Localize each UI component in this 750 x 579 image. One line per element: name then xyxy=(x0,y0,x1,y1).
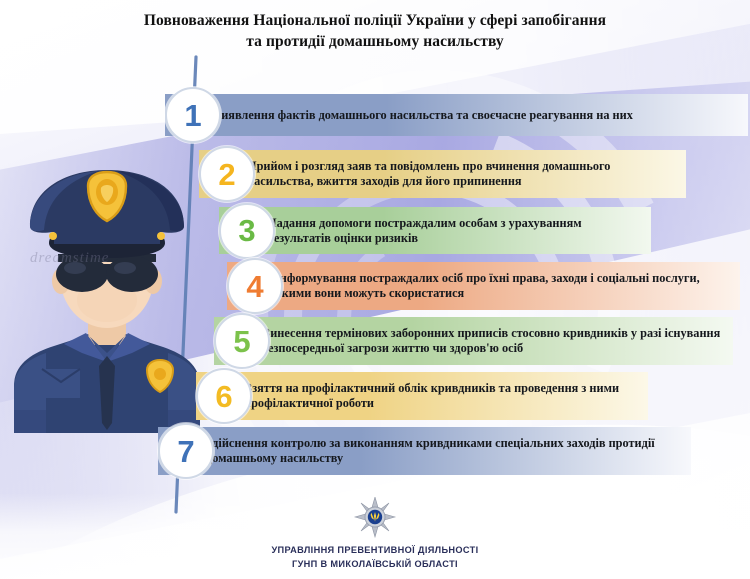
step-text: Винесення термінових заборонних приписів… xyxy=(262,326,723,356)
step-number-circle: 2 xyxy=(199,146,255,202)
step-bar: Виявлення фактів домашнього насильства т… xyxy=(165,94,748,136)
step-number-circle: 6 xyxy=(196,368,252,424)
step-number-circle: 4 xyxy=(227,258,283,314)
step-number: 5 xyxy=(233,326,250,357)
police-star-badge-icon xyxy=(353,497,397,539)
step-text: Прийом і розгляд заяв та повідомлень про… xyxy=(247,159,676,189)
step-text: Здійснення контролю за виконанням кривдн… xyxy=(206,436,681,466)
footer-line-2: ГУНП В МИКОЛАЇВСЬКІЙ ОБЛАСТІ xyxy=(0,558,750,571)
step-number: 1 xyxy=(184,100,201,131)
step-text: Виявлення фактів домашнього насильства т… xyxy=(213,108,633,123)
step-number: 7 xyxy=(177,436,194,467)
footer: УПРАВЛІННЯ ПРЕВЕНТИВНОЇ ДІЯЛЬНОСТІ ГУНП … xyxy=(0,497,750,571)
step-bar: Винесення термінових заборонних приписів… xyxy=(214,317,733,365)
step-text: Взяття на профілактичний облік кривдникі… xyxy=(244,381,638,411)
infographic-poster: Повноваження Національної поліції Україн… xyxy=(0,0,750,579)
step-number-circle: 5 xyxy=(214,313,270,369)
step-text: Надання допомоги постраждалим особам з у… xyxy=(267,216,641,246)
step-number-circle: 3 xyxy=(219,203,275,259)
list-item: Виявлення фактів домашнього насильства т… xyxy=(165,94,748,136)
list-item: Здійснення контролю за виконанням кривдн… xyxy=(158,427,691,475)
step-number: 3 xyxy=(238,215,255,246)
step-number-circle: 1 xyxy=(165,87,221,143)
steps-list: Виявлення фактів домашнього насильства т… xyxy=(0,0,750,579)
step-text: Інформування постраждалих осіб про їхні … xyxy=(275,271,730,301)
title-line-1: Повноваження Національної поліції Україн… xyxy=(144,12,606,29)
step-number: 6 xyxy=(215,381,232,412)
step-bar: Надання допомоги постраждалим особам з у… xyxy=(219,207,651,254)
title-line-2: та протидії домашньому насильству xyxy=(0,31,750,52)
page-title: Повноваження Національної поліції Україн… xyxy=(0,10,750,53)
list-item: Прийом і розгляд заяв та повідомлень про… xyxy=(199,150,686,198)
step-bar: Взяття на профілактичний облік кривдникі… xyxy=(196,372,648,420)
list-item: Винесення термінових заборонних приписів… xyxy=(214,317,733,365)
step-bar: Інформування постраждалих осіб про їхні … xyxy=(227,262,740,310)
step-number: 2 xyxy=(218,159,235,190)
list-item: Інформування постраждалих осіб про їхні … xyxy=(227,262,740,310)
list-item: Надання допомоги постраждалим особам з у… xyxy=(219,207,651,254)
step-bar: Прийом і розгляд заяв та повідомлень про… xyxy=(199,150,686,198)
step-number: 4 xyxy=(246,271,263,302)
step-number-circle: 7 xyxy=(158,423,214,479)
step-bar: Здійснення контролю за виконанням кривдн… xyxy=(158,427,691,475)
list-item: Взяття на профілактичний облік кривдникі… xyxy=(196,372,648,420)
footer-line-1: УПРАВЛІННЯ ПРЕВЕНТИВНОЇ ДІЯЛЬНОСТІ xyxy=(0,544,750,557)
